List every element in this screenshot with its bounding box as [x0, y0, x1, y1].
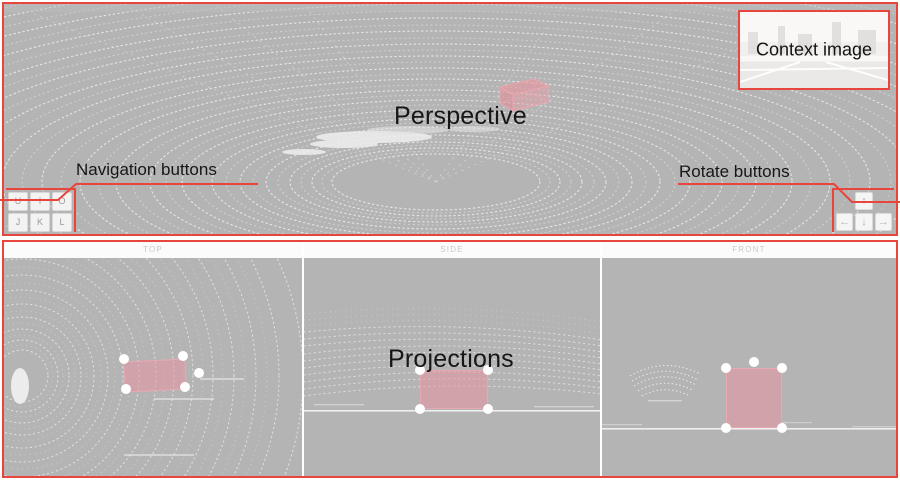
projection-canvas-top[interactable] — [4, 258, 302, 476]
projection-box-top-handle-bl[interactable] — [121, 384, 131, 394]
projection-box-top-handle-tr[interactable] — [178, 351, 188, 361]
navigation-buttons-row-top: U I O — [8, 192, 72, 211]
navigation-buttons-callout-label: Navigation buttons — [76, 160, 217, 180]
rotate-key-down-arrow-icon[interactable]: ↓ — [855, 213, 872, 231]
nav-key-k[interactable]: K — [30, 213, 50, 232]
projection-view-front[interactable]: FRONT — [600, 242, 896, 476]
context-image-thumbnail[interactable]: Context image — [738, 10, 890, 90]
rotate-key-spacer-left — [836, 192, 853, 210]
rotate-buttons-row-top: ↑ — [836, 192, 892, 211]
lidar-point-cloud-front — [602, 258, 896, 476]
rotate-key-spacer-right — [875, 192, 892, 210]
projection-box-top-handle-heading[interactable] — [194, 368, 204, 378]
projection-box-side[interactable] — [420, 370, 488, 409]
projection-box-front-handle-br[interactable] — [777, 423, 787, 433]
perspective-view-panel[interactable]: Perspective — [2, 2, 898, 236]
annotation-tool-window: Perspective — [0, 0, 900, 480]
rotate-key-right-arrow-icon[interactable]: → — [875, 213, 892, 231]
projections-label: Projections — [388, 345, 514, 374]
projection-box-front-handle-bl[interactable] — [721, 423, 731, 433]
context-image-label: Context image — [740, 40, 888, 61]
rotate-buttons-callout-label: Rotate buttons — [679, 162, 790, 182]
projection-view-top[interactable]: TOP — [4, 242, 302, 476]
projection-box-top-handle-br[interactable] — [180, 382, 190, 392]
nav-key-l[interactable]: L — [52, 213, 72, 232]
projection-box-side-handle-bl[interactable] — [415, 404, 425, 414]
projection-box-top-handle-tl[interactable] — [119, 354, 129, 364]
projection-header-side: SIDE — [304, 242, 600, 258]
projection-canvas-front[interactable] — [602, 258, 896, 476]
projection-box-top[interactable] — [123, 358, 187, 392]
projection-box-front-handle-tr[interactable] — [777, 363, 787, 373]
nav-key-o[interactable]: O — [52, 192, 72, 211]
nav-key-j[interactable]: J — [8, 213, 28, 232]
rotate-buttons-group[interactable]: ↑ ← ↓ → — [832, 188, 894, 232]
navigation-buttons-group[interactable]: U I O J K L — [6, 188, 76, 232]
projection-header-front: FRONT — [602, 242, 896, 258]
projection-box-front-handle-tl[interactable] — [721, 363, 731, 373]
projection-box-front[interactable] — [726, 368, 782, 428]
rotate-key-left-arrow-icon[interactable]: ← — [836, 213, 853, 231]
projection-box-front-handle-top-center[interactable] — [749, 357, 759, 367]
navigation-buttons-row-bottom: J K L — [8, 213, 72, 232]
projection-box-side-handle-br[interactable] — [483, 404, 493, 414]
rotate-buttons-row-bottom: ← ↓ → — [836, 213, 892, 232]
nav-key-i[interactable]: I — [30, 192, 50, 211]
projection-header-top: TOP — [4, 242, 302, 258]
rotate-key-up-arrow-icon[interactable]: ↑ — [855, 192, 872, 210]
3d-bounding-box-cuboid[interactable] — [486, 78, 550, 116]
nav-key-u[interactable]: U — [8, 192, 28, 211]
